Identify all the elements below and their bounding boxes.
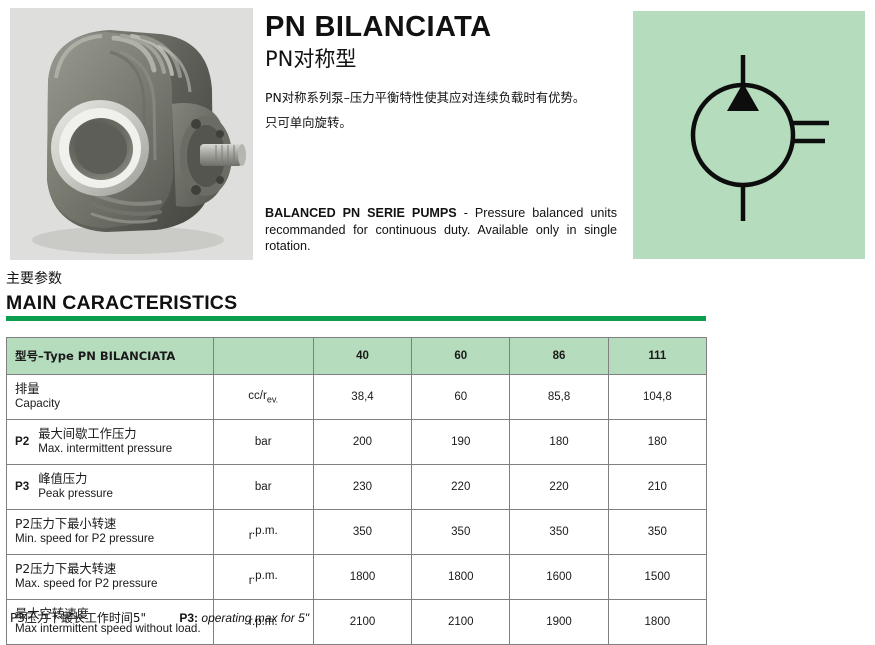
row-label-cell: P2最大间歇工作压力Max. intermittent pressure xyxy=(7,420,214,465)
title-block: PN BILANCIATA PN对称型 xyxy=(265,12,625,72)
row-label-cell: P2压力下最小转速Min. speed for P2 pressure xyxy=(7,510,214,555)
description-cn-line-1: PN对称系列泵–压力平衡特性使其应对连续负载时有优势。 xyxy=(265,86,627,111)
row-value-cell: 220 xyxy=(412,465,510,510)
header-unit-cell xyxy=(213,338,313,375)
footnote-en-text: operating max for 5" xyxy=(201,611,309,625)
row-label-en: Max. intermittent pressure xyxy=(38,442,172,457)
row-value-cell: 350 xyxy=(608,510,706,555)
row-label-en: Capacity xyxy=(15,397,60,412)
row-value-cell: 180 xyxy=(608,420,706,465)
row-value-cell: 1600 xyxy=(510,555,608,600)
section-heading-en: MAIN CARACTERISTICS xyxy=(6,291,706,316)
row-label-cell: P2压力下最大转速Max. speed for P2 pressure xyxy=(7,555,214,600)
row-value-cell: 350 xyxy=(510,510,608,555)
footnote: P3压力下最长工作时间5" P3: operating max for 5" xyxy=(10,609,710,626)
section-heading-cn: 主要参数 xyxy=(6,270,706,289)
row-value-cell: 350 xyxy=(412,510,510,555)
row-label-cn: 最大间歇工作压力 xyxy=(38,427,172,443)
row-label-cn: 峰值压力 xyxy=(38,472,113,488)
row-value-cell: 350 xyxy=(313,510,411,555)
row-label-en: Peak pressure xyxy=(38,487,113,502)
header-model-86: 86 xyxy=(510,338,608,375)
row-value-cell: 60 xyxy=(412,375,510,420)
specification-table: 型号–Type PN BILANCIATA 40 60 86 111 排量Cap… xyxy=(6,337,707,645)
row-label-cn: P2压力下最小转速 xyxy=(15,517,154,533)
section-heading: 主要参数 MAIN CARACTERISTICS xyxy=(6,270,706,316)
row-unit: bar xyxy=(255,481,272,493)
row-unit: r.p.m. xyxy=(249,526,278,539)
row-value-cell: 200 xyxy=(313,420,411,465)
header-model-111: 111 xyxy=(608,338,706,375)
row-pressure-code: P2 xyxy=(15,435,29,450)
row-label-cn: P2压力下最大转速 xyxy=(15,562,157,578)
description-cn-line-2: 只可单向旋转。 xyxy=(265,111,627,136)
row-pressure-code: P3 xyxy=(15,480,29,495)
page-title: PN BILANCIATA xyxy=(265,12,625,43)
row-label-en: Max. speed for P2 pressure xyxy=(15,577,157,592)
table-row: 排量Capacitycc/rev.38,46085,8104,8 xyxy=(7,375,707,420)
row-label-cell: 排量Capacity xyxy=(7,375,214,420)
table-row: P3峰值压力Peak pressurebar230220220210 xyxy=(7,465,707,510)
row-unit: bar xyxy=(255,436,272,448)
product-photo xyxy=(10,8,253,260)
row-value-cell: 85,8 xyxy=(510,375,608,420)
row-unit: cc/rev. xyxy=(248,390,278,402)
footnote-cn: P3压力下最长工作时间5" xyxy=(10,611,146,625)
hydraulic-symbol-panel xyxy=(633,11,865,259)
pump-symbol-icon xyxy=(693,55,829,221)
table-row: P2最大间歇工作压力Max. intermittent pressurebar2… xyxy=(7,420,707,465)
table-header-row: 型号–Type PN BILANCIATA 40 60 86 111 xyxy=(7,338,707,375)
description-chinese: PN对称系列泵–压力平衡特性使其应对连续负载时有优势。 只可单向旋转。 xyxy=(265,86,627,136)
row-value-cell: 230 xyxy=(313,465,411,510)
row-label-cell: P3峰值压力Peak pressure xyxy=(7,465,214,510)
header-type-label: 型号–Type PN BILANCIATA xyxy=(7,338,214,375)
row-unit-cell: bar xyxy=(213,420,313,465)
row-value-cell: 220 xyxy=(510,465,608,510)
row-unit-cell: bar xyxy=(213,465,313,510)
row-unit-cell: cc/rev. xyxy=(213,375,313,420)
header-model-40: 40 xyxy=(313,338,411,375)
row-unit-cell: r.p.m. xyxy=(213,555,313,600)
footnote-en: P3: operating max for 5" xyxy=(179,611,309,625)
row-value-cell: 1800 xyxy=(313,555,411,600)
row-value-cell: 190 xyxy=(412,420,510,465)
row-value-cell: 210 xyxy=(608,465,706,510)
row-unit-cell: r.p.m. xyxy=(213,510,313,555)
table-row: P2压力下最大转速Max. speed for P2 pressurer.p.m… xyxy=(7,555,707,600)
header-model-60: 60 xyxy=(412,338,510,375)
row-value-cell: 180 xyxy=(510,420,608,465)
row-value-cell: 104,8 xyxy=(608,375,706,420)
section-divider xyxy=(6,316,706,321)
description-english: BALANCED PN SERIE PUMPS - Pressure balan… xyxy=(265,205,617,255)
table-row: P2压力下最小转速Min. speed for P2 pressurer.p.m… xyxy=(7,510,707,555)
row-value-cell: 1800 xyxy=(412,555,510,600)
row-value-cell: 38,4 xyxy=(313,375,411,420)
row-value-cell: 1500 xyxy=(608,555,706,600)
row-label-cn: 排量 xyxy=(15,382,60,398)
page-title-cn: PN对称型 xyxy=(265,46,625,72)
footnote-en-code: P3: xyxy=(179,611,198,625)
row-unit: r.p.m. xyxy=(249,571,278,584)
description-en-lead: BALANCED PN SERIE PUMPS xyxy=(265,206,457,220)
row-label-en: Min. speed for P2 pressure xyxy=(15,532,154,547)
